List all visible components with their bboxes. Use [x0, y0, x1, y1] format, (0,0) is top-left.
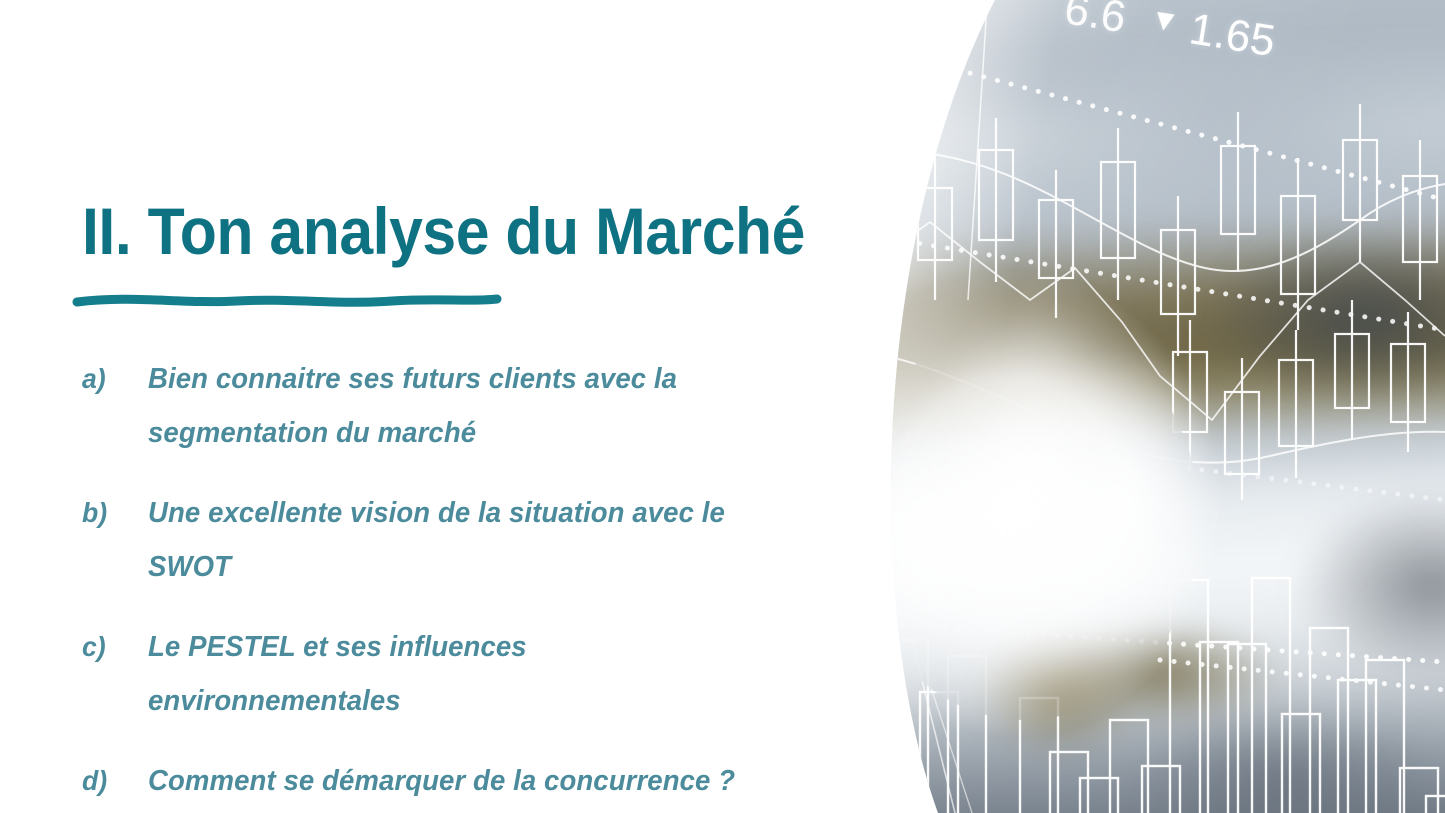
slide-root: 6.6 ▼ 1.65 II. Ton analyse du Marché a) … [0, 0, 1445, 813]
list-item-marker: d) [82, 754, 145, 808]
slide-content: II. Ton analyse du Marché a) Bien connai… [0, 0, 880, 813]
list-item: a) Bien connaitre ses futurs clients ave… [82, 352, 882, 460]
title-underline-stroke [72, 280, 502, 314]
decorative-finance-image: 6.6 ▼ 1.65 [860, 0, 1445, 813]
list-item: c) Le PESTEL et ses influences environne… [82, 620, 882, 728]
page-title: II. Ton analyse du Marché [82, 198, 805, 264]
list-item-marker: b) [82, 486, 145, 540]
list-item-label: Une excellente vision de la situation av… [148, 486, 737, 594]
list-item: d) Comment se démarquer de la concurrenc… [82, 754, 882, 808]
ticker-down-arrow-icon: ▼ [1147, 2, 1182, 40]
list-item-marker: c) [82, 620, 145, 674]
chart-overlay [860, 0, 1445, 813]
list-item-label: Le PESTEL et ses influences environnemen… [148, 620, 737, 728]
bullet-list: a) Bien connaitre ses futurs clients ave… [82, 352, 882, 813]
list-item: b) Une excellente vision de la situation… [82, 486, 882, 594]
list-item-label: Comment se démarquer de la concurrence ? [148, 754, 737, 808]
list-item-label: Bien connaitre ses futurs clients avec l… [148, 352, 737, 460]
list-item-marker: a) [82, 352, 145, 406]
